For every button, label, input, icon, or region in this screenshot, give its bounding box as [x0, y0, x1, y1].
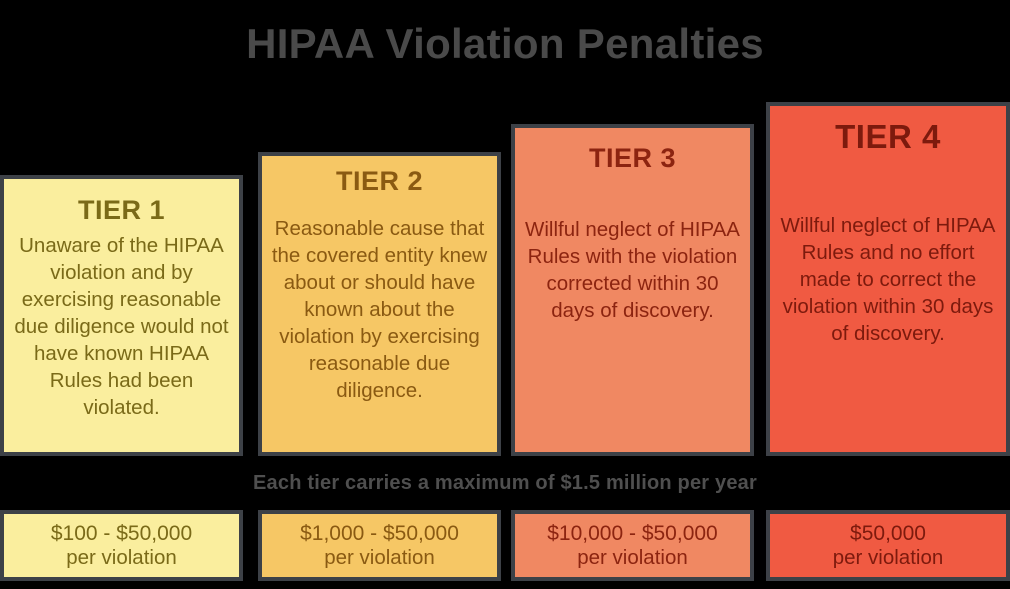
tier-2-penalty-unit: per violation: [324, 546, 435, 571]
penalty-cell-tier-4: $50,000 per violation: [766, 510, 1010, 581]
tier-3-penalty-unit: per violation: [577, 546, 688, 571]
tier-1-penalty-unit: per violation: [66, 546, 177, 571]
tier-bar-1: TIER 1 Unaware of the HIPAA violation an…: [0, 175, 243, 456]
tier-3-description: Willful neglect of HIPAA Rules with the …: [524, 216, 741, 324]
penalty-amounts-row: $100 - $50,000 per violation $1,000 - $5…: [0, 510, 1010, 581]
tier-bar-2: TIER 2 Reasonable cause that the covered…: [258, 152, 501, 456]
tier-3-heading: TIER 3: [524, 143, 741, 174]
tier-bar-3: TIER 3 Willful neglect of HIPAA Rules wi…: [511, 124, 754, 456]
caption-band: Each tier carries a maximum of $1.5 mill…: [0, 456, 1010, 510]
tier-2-heading: TIER 2: [271, 166, 488, 197]
tier-1-description: Unaware of the HIPAA violation and by ex…: [13, 232, 230, 421]
tier-1-penalty-amount: $100 - $50,000: [51, 521, 192, 546]
tier-bar-4: TIER 4 Willful neglect of HIPAA Rules an…: [766, 102, 1010, 456]
tier-1-heading: TIER 1: [13, 195, 230, 226]
tier-2-description: Reasonable cause that the covered entity…: [271, 215, 488, 404]
tier-bars-chart: TIER 1 Unaware of the HIPAA violation an…: [0, 0, 1010, 456]
penalty-cell-tier-1: $100 - $50,000 per violation: [0, 510, 243, 581]
penalty-cell-tier-3: $10,000 - $50,000 per violation: [511, 510, 754, 581]
tier-4-heading: TIER 4: [779, 118, 997, 156]
tier-4-description: Willful neglect of HIPAA Rules and no ef…: [779, 212, 997, 347]
annual-maximum-caption: Each tier carries a maximum of $1.5 mill…: [253, 472, 757, 495]
penalty-cell-tier-2: $1,000 - $50,000 per violation: [258, 510, 501, 581]
tier-2-penalty-amount: $1,000 - $50,000: [300, 521, 459, 546]
tier-4-penalty-unit: per violation: [833, 546, 944, 571]
hipaa-penalties-infographic: HIPAA Violation Penalties TIER 1 Unaware…: [0, 0, 1010, 589]
tier-4-penalty-amount: $50,000: [850, 521, 926, 546]
tier-3-penalty-amount: $10,000 - $50,000: [547, 521, 717, 546]
